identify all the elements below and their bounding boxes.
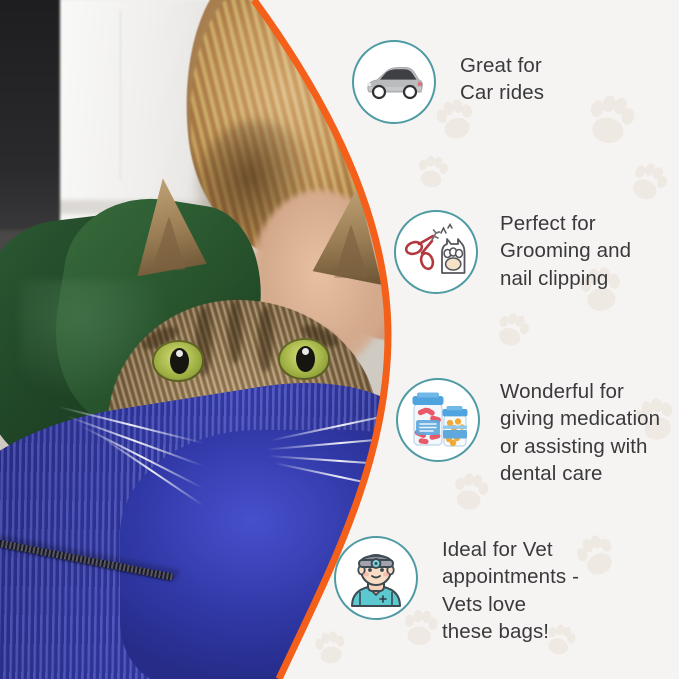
feature-text: Wonderful for giving medication or assis… — [500, 378, 660, 488]
feature-item-grooming[interactable]: Perfect for Grooming and nail clipping — [394, 210, 631, 294]
feature-icon-circle — [394, 210, 478, 294]
feature-item-car-rides[interactable]: Great for Car rides — [352, 40, 544, 124]
feature-icon-circle — [396, 378, 480, 462]
feature-list: Great for Car rides — [0, 0, 679, 679]
feature-icon-circle — [334, 536, 418, 620]
feature-text: Ideal for Vet appointments - Vets love t… — [442, 536, 579, 646]
feature-item-medication[interactable]: Wonderful for giving medication or assis… — [396, 378, 660, 488]
nail-clippers-paw-icon — [405, 223, 467, 281]
car-icon — [363, 61, 425, 103]
veterinarian-icon — [346, 548, 406, 608]
feature-item-vet[interactable]: Ideal for Vet appointments - Vets love t… — [334, 536, 579, 646]
feature-text: Perfect for Grooming and nail clipping — [500, 210, 631, 292]
infographic-root: Great for Car rides — [0, 0, 679, 679]
feature-icon-circle — [352, 40, 436, 124]
medication-bottles-icon — [407, 391, 469, 449]
feature-text: Great for Car rides — [460, 40, 544, 107]
